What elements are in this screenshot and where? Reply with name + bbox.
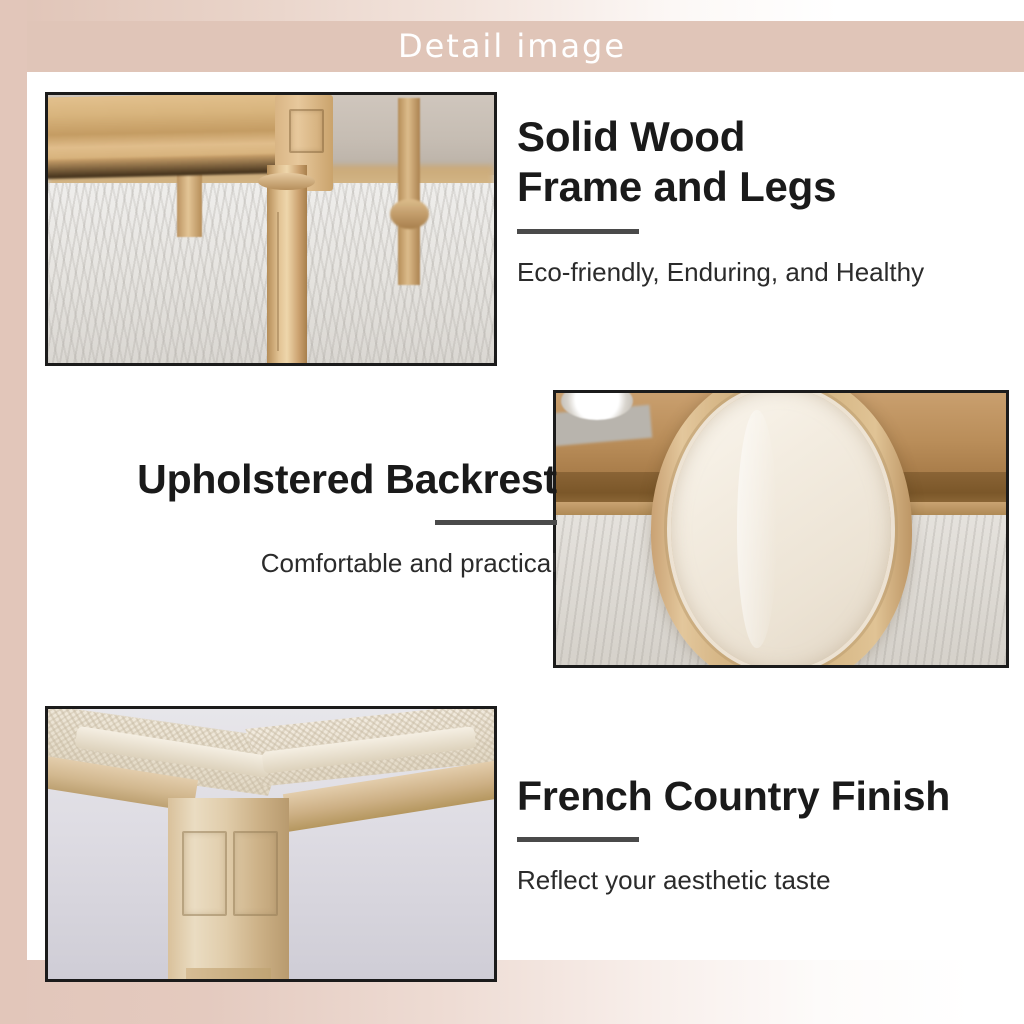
heading-rule: [435, 520, 557, 525]
photo-2-scene: [556, 393, 1006, 665]
left-accent-border: [0, 0, 27, 1024]
carved-leg-post: [168, 798, 288, 979]
header-band: Detail image: [0, 21, 1024, 72]
feature-block-upholstered-backrest: Upholstered Backrest Comfortable and pra…: [47, 455, 557, 580]
page-title: Detail image: [398, 30, 626, 64]
heading-rule: [517, 837, 639, 842]
photo-1-scene: [48, 95, 494, 363]
feature-heading: Upholstered Backrest: [47, 455, 557, 504]
feature-block-french-country-finish: French Country Finish Reflect your aesth…: [517, 772, 1017, 897]
front-turned-leg: [267, 165, 307, 363]
content-canvas: Solid Wood Frame and Legs Eco-friendly, …: [27, 72, 1024, 960]
leg-taper: [186, 968, 271, 982]
mid-chair-leg: [177, 167, 202, 237]
feature-subtext: Reflect your aesthetic taste: [517, 864, 1017, 897]
seat-corner-carved-leg-photo: [45, 706, 497, 982]
heading-rule: [517, 229, 639, 234]
feature-heading: Solid Wood Frame and Legs: [517, 112, 1017, 213]
bottom-left-accent-corner: [0, 960, 27, 1024]
top-accent-gradient: [0, 0, 1024, 21]
photo-3-scene: [48, 709, 494, 979]
far-chair-leg: [398, 98, 420, 286]
feature-subtext: Eco-friendly, Enduring, and Healthy: [517, 256, 1017, 289]
detail-image-page: Detail image Solid Wood Frame and Legs E…: [0, 0, 1024, 1024]
feature-block-solid-wood: Solid Wood Frame and Legs Eco-friendly, …: [517, 112, 1017, 288]
carved-panel-left: [182, 831, 227, 916]
carved-panel-right: [233, 831, 278, 916]
oval-fabric-panel: [671, 390, 890, 668]
oval-upholstered-backrest-photo: [553, 390, 1009, 668]
feature-heading: French Country Finish: [517, 772, 1017, 821]
chair-legs-on-rug-photo: [45, 92, 497, 366]
feature-subtext: Comfortable and practical: [47, 547, 557, 580]
oval-wood-frame: [651, 390, 912, 668]
